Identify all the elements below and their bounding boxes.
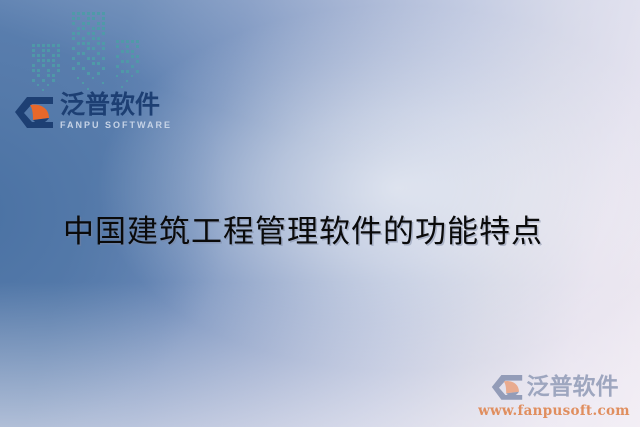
slide-canvas: 泛普软件 FANPU SOFTWARE 中国建筑工程管理软件的功能特点 泛普软件…: [0, 0, 640, 427]
fanpu-logo-icon: [13, 92, 55, 132]
logo-brand-cn: 泛普软件: [60, 91, 172, 118]
pixel-skyline-icon: [30, 4, 160, 96]
watermark: 泛普软件 www.fanpusoft.com: [478, 371, 630, 419]
watermark-brand-cn: 泛普软件: [527, 374, 619, 400]
header-logo: 泛普软件 FANPU SOFTWARE: [13, 91, 172, 132]
slide-title: 中国建筑工程管理软件的功能特点: [63, 212, 543, 252]
watermark-url: www.fanpusoft.com: [478, 403, 630, 419]
fanpu-logo-icon: [490, 371, 524, 403]
watermark-brand-row: 泛普软件: [490, 371, 619, 403]
logo-brand-en: FANPU SOFTWARE: [60, 119, 172, 131]
